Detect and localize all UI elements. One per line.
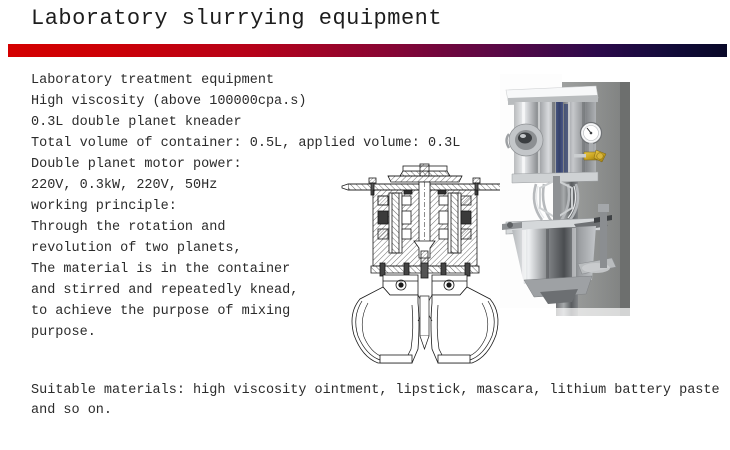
slide-page: Laboratory slurrying equipment Laborator… [0,0,730,450]
description-line: 0.3L double planet kneader [31,112,431,133]
description-line: Total volume of container: 0.5L, applied… [31,133,431,154]
description-line: Laboratory treatment equipment [31,70,431,91]
gradient-divider [8,44,727,57]
cad-drawing-figure [340,163,510,368]
page-title: Laboratory slurrying equipment [31,5,442,33]
suitable-materials-note: Suitable materials: high viscosity ointm… [31,381,701,421]
description-line: High viscosity (above 100000cpa.s) [31,91,431,112]
note-line: Suitable materials: high viscosity ointm… [31,381,701,401]
note-line: and so on. [31,401,701,421]
equipment-photo [500,68,652,316]
